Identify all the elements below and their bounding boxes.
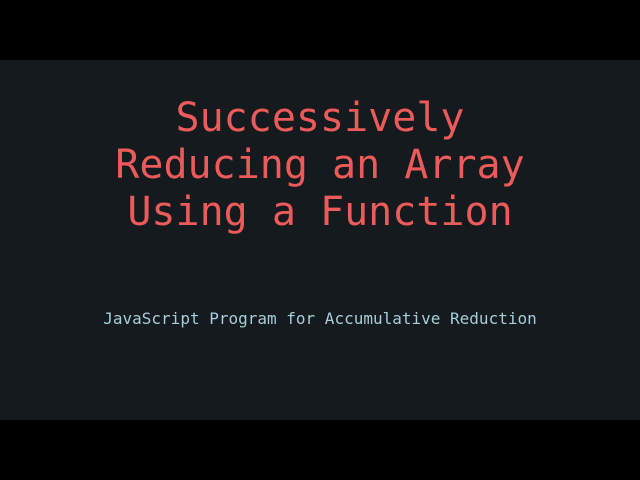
slide-title: Successively Reducing an Array Using a F… bbox=[0, 95, 640, 236]
title-line-3: Using a Function bbox=[0, 189, 640, 236]
subtitle-text: JavaScript Program for Accumulative Redu… bbox=[0, 308, 640, 330]
video-slide-frame: Successively Reducing an Array Using a F… bbox=[0, 0, 640, 480]
letterbox-bar-top bbox=[0, 0, 640, 60]
slide-content-area: Successively Reducing an Array Using a F… bbox=[0, 60, 640, 420]
letterbox-bar-bottom bbox=[0, 420, 640, 480]
title-line-1: Successively bbox=[0, 95, 640, 142]
title-line-2: Reducing an Array bbox=[0, 142, 640, 189]
slide-subtitle: JavaScript Program for Accumulative Redu… bbox=[0, 308, 640, 330]
